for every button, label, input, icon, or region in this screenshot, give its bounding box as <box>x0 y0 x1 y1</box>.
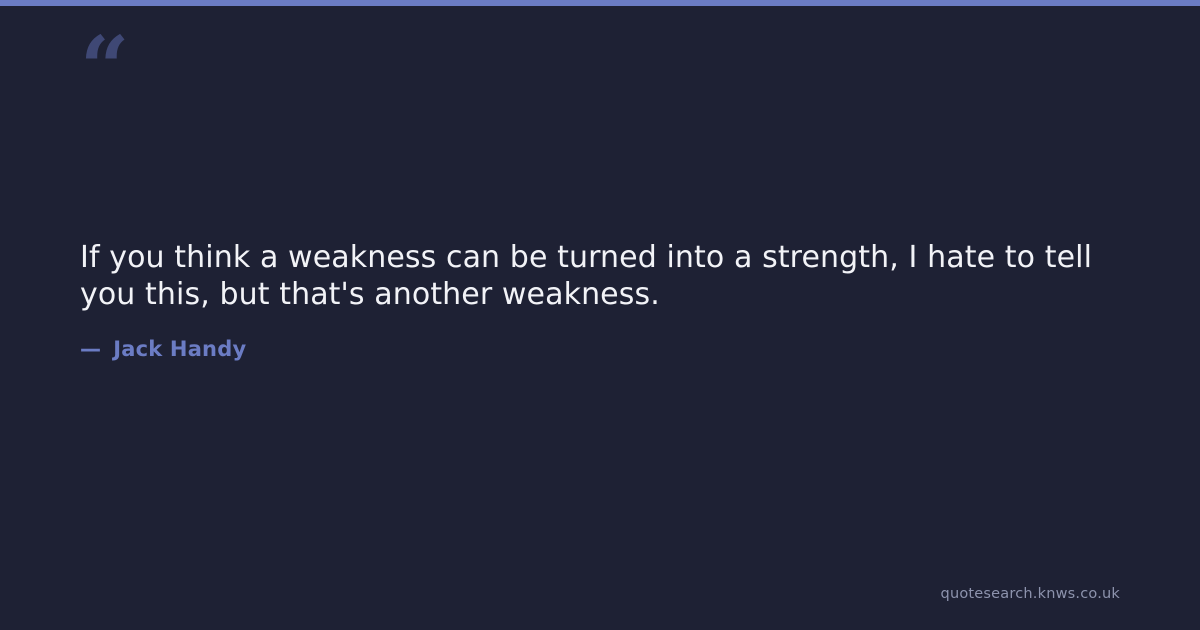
attribution-dash: — <box>80 337 101 361</box>
source-watermark: quotesearch.knws.co.uk <box>941 586 1120 602</box>
top-accent-rule <box>0 0 1200 6</box>
quote-text: If you think a weakness can be turned in… <box>80 240 1110 313</box>
author-name: Jack Handy <box>113 337 246 361</box>
quotation-mark-icon: “ <box>80 26 127 112</box>
quote-card: “ If you think a weakness can be turned … <box>0 0 1200 630</box>
attribution: —Jack Handy <box>80 337 246 361</box>
